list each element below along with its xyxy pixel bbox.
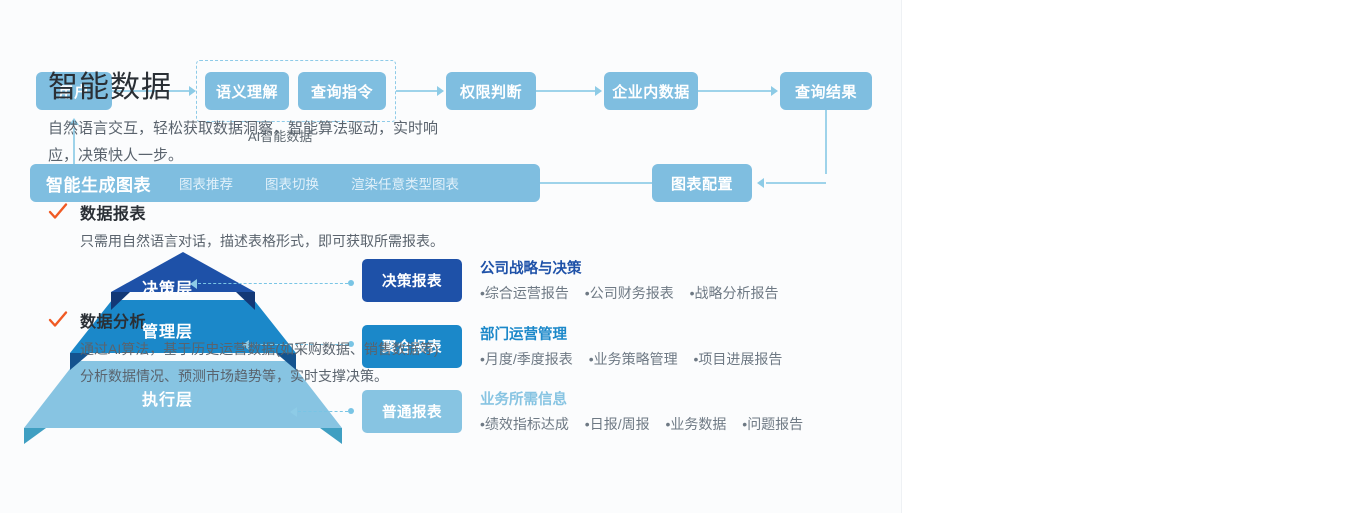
report-item: •综合运营报告: [480, 285, 569, 301]
report-title-decision: 公司战略与决策: [480, 257, 791, 278]
report-button-decision[interactable]: 决策报表: [362, 259, 462, 302]
report-title-aggregate: 部门运营管理: [480, 323, 794, 344]
feature-body-reports: 只需用自然语言对话，描述表格形式，即可获取所需报表。: [80, 228, 448, 255]
flow-node-query-command[interactable]: 查询指令: [298, 72, 386, 110]
flow-diagram: 用户 语义理解 查询指令 权限判断 企业内数据 查询结果 图表配置 AI智能数据: [0, 0, 902, 225]
feature-title-reports: 数据报表: [80, 200, 146, 224]
pyramid-fold-execution-left: [24, 428, 46, 444]
dashed-connector-decision: [198, 283, 348, 284]
report-text-decision: 公司战略与决策 •综合运营报告 •公司财务报表 •战略分析报告: [480, 257, 791, 303]
page-root: 用户 语义理解 查询指令 权限判断 企业内数据 查询结果 图表配置 AI智能数据: [0, 0, 1365, 513]
arrow-auth-to-enterprise: [595, 86, 602, 96]
feature-body-analysis: 通过AI算法，基于历史运营数据(如采购数据、销售数据等)分析数据情况、预测市场趋…: [80, 336, 448, 390]
report-row-decision: 决策报表 公司战略与决策 •综合运营报告 •公司财务报表 •战略分析报告: [362, 259, 882, 309]
genbar-sub-label-1: 图表切换: [265, 173, 319, 193]
connector-result-down: [825, 110, 827, 174]
genbar-main-label: 智能生成图表: [46, 171, 151, 196]
connector-chartconfig-to-genbar: [540, 182, 652, 184]
connector-auth-to-enterprise: [536, 90, 596, 92]
report-item: •公司财务报表: [585, 285, 674, 301]
report-item: •绩效指标达成: [480, 416, 569, 432]
report-item: •日报/周报: [585, 416, 650, 432]
page-subtitle: 自然语言交互，轻松获取数据洞察，智能算法驱动，实时响应，决策快人一步。: [48, 115, 452, 169]
report-text-normal: 业务所需信息 •绩效指标达成 •日报/周报 •业务数据 •问题报告: [480, 388, 815, 434]
report-items-normal: •绩效指标达成 •日报/周报 •业务数据 •问题报告: [480, 414, 815, 434]
connector-result-to-chartconfig: [766, 182, 826, 184]
pyramid-label-execution: 执行层: [142, 386, 193, 410]
flow-node-permission-check[interactable]: 权限判断: [446, 72, 536, 110]
report-item: •战略分析报告: [690, 285, 779, 301]
report-button-normal[interactable]: 普通报表: [362, 390, 462, 433]
flow-node-semantic-understanding[interactable]: 语义理解: [205, 72, 289, 110]
report-item: •问题报告: [742, 416, 803, 432]
report-item: •业务策略管理: [589, 351, 678, 367]
report-item: •业务数据: [665, 416, 726, 432]
report-item: •月度/季度报表: [480, 351, 573, 367]
report-items-aggregate: •月度/季度报表 •业务策略管理 •项目进展报告: [480, 349, 794, 369]
dashed-dot-decision: [348, 280, 354, 286]
report-item: •项目进展报告: [693, 351, 782, 367]
arrow-user-to-semantic: [189, 86, 196, 96]
check-icon: [48, 310, 68, 330]
pyramid-fold-execution-right: [320, 428, 342, 444]
report-title-normal: 业务所需信息: [480, 388, 815, 409]
genbar-sub-label-2: 渲染任意类型图表: [351, 173, 459, 193]
flow-node-chart-config[interactable]: 图表配置: [652, 164, 752, 202]
dashed-arrowhead-execution: [290, 407, 297, 417]
feature-title-analysis: 数据分析: [80, 308, 146, 332]
right-info-panel: [902, 0, 1365, 513]
report-row-normal: 普通报表 业务所需信息 •绩效指标达成 •日报/周报 •业务数据 •问题报告: [362, 390, 882, 440]
arrow-query-to-auth: [437, 86, 444, 96]
arrow-result-to-chartconfig: [757, 178, 764, 188]
dashed-dot-execution: [348, 408, 354, 414]
connector-query-to-auth: [396, 90, 438, 92]
smart-chart-generation-bar[interactable]: 智能生成图表 图表推荐 图表切换 渲染任意类型图表: [30, 164, 540, 202]
dashed-connector-execution: [298, 411, 348, 412]
genbar-sub-label-0: 图表推荐: [179, 173, 233, 193]
arrow-enterprise-to-result: [771, 86, 778, 96]
flow-node-query-result[interactable]: 查询结果: [780, 72, 872, 110]
check-icon: [48, 202, 68, 222]
pyramid-label-decision: 决策层: [142, 275, 193, 299]
connector-enterprise-to-result: [698, 90, 772, 92]
pyramid-label-management: 管理层: [142, 318, 193, 342]
report-items-decision: •综合运营报告 •公司财务报表 •战略分析报告: [480, 283, 791, 303]
flow-node-enterprise-data[interactable]: 企业内数据: [604, 72, 698, 110]
report-text-aggregate: 部门运营管理 •月度/季度报表 •业务策略管理 •项目进展报告: [480, 323, 794, 369]
page-title: 智能数据: [48, 62, 172, 106]
